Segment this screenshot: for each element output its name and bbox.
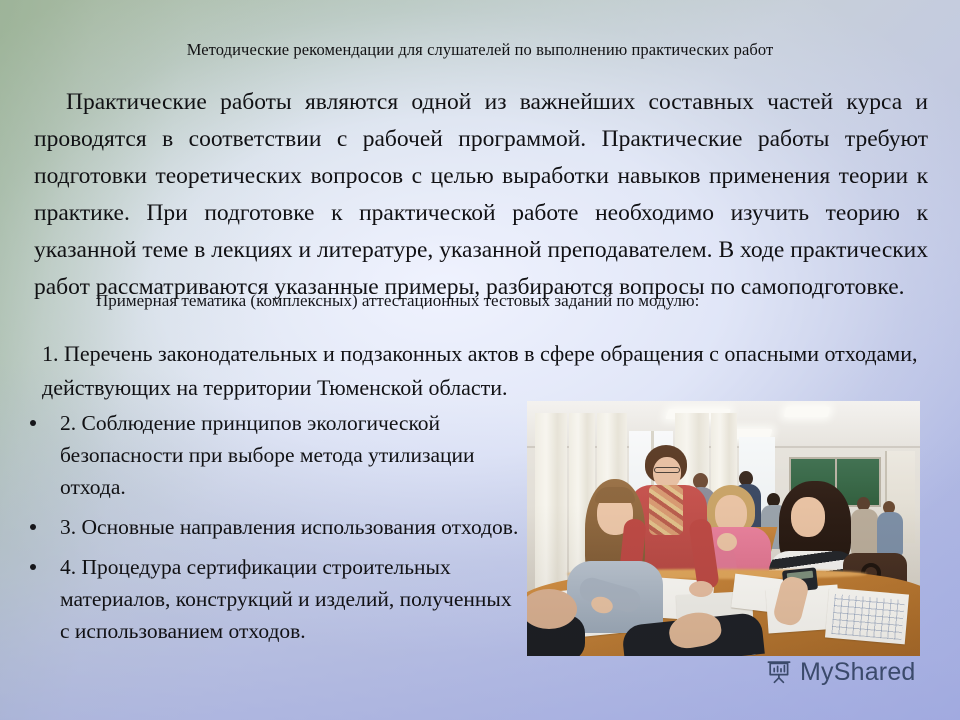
presentation-slide: Методические рекомендации для слушателей… bbox=[0, 0, 960, 720]
list-item: 4. Процедура сертификации строительных м… bbox=[22, 551, 522, 647]
photo-shading-overlay bbox=[527, 401, 920, 656]
list-item-1: 1. Перечень законодательных и подзаконны… bbox=[42, 337, 932, 405]
bullet-dot-icon bbox=[30, 564, 36, 570]
watermark: MyShared bbox=[767, 658, 916, 687]
bullet-dot-icon bbox=[30, 420, 36, 426]
intro-paragraph: Практические работы являются одной из ва… bbox=[34, 84, 928, 306]
watermark-label: MyShared bbox=[800, 658, 916, 687]
page-title: Методические рекомендации для слушателей… bbox=[0, 40, 960, 60]
bullet-dot-icon bbox=[30, 524, 36, 530]
list-item-label: 3. Основные направления использования от… bbox=[60, 515, 518, 539]
presentation-chart-icon bbox=[767, 660, 793, 686]
list-item-label: 4. Процедура сертификации строительных м… bbox=[60, 555, 512, 643]
list-item: 3. Основные направления использования от… bbox=[22, 511, 522, 543]
classroom-photo bbox=[527, 401, 920, 656]
section-subheading: Примерная тематика (комплексных) аттеста… bbox=[96, 291, 896, 311]
list-item-label: 2. Соблюдение принципов экологической бе… bbox=[60, 411, 475, 499]
bullet-list: 2. Соблюдение принципов экологической бе… bbox=[22, 407, 522, 655]
list-item: 2. Соблюдение принципов экологической бе… bbox=[22, 407, 522, 503]
